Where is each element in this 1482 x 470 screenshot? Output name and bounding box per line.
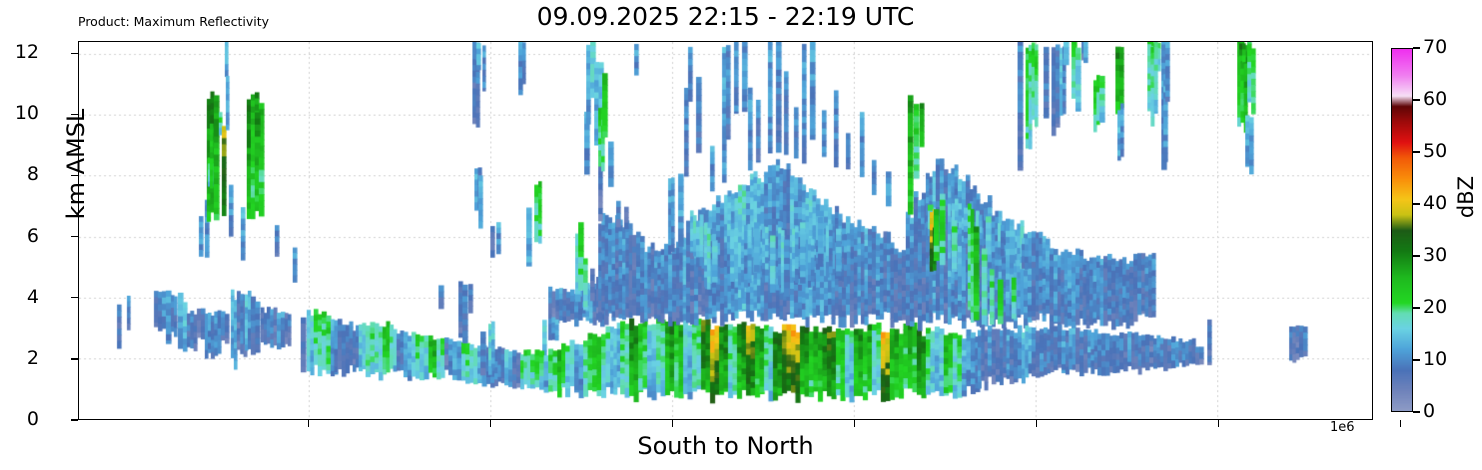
y-tick-mark xyxy=(71,175,78,176)
y-tick-mark xyxy=(71,297,78,298)
colorbar xyxy=(1391,48,1413,412)
page-title: 09.09.2025 22:15 - 22:19 UTC xyxy=(78,2,1373,32)
colorbar-tick-label: 10 xyxy=(1423,350,1447,369)
colorbar-tick-mark xyxy=(1413,47,1420,48)
colorbar-tick-label: 50 xyxy=(1423,142,1447,161)
chart-root: Product: Maximum Reflectivity 09.09.2025… xyxy=(0,0,1482,470)
colorbar-tick-mark xyxy=(1413,411,1420,412)
colorbar-tick-mark xyxy=(1413,99,1420,100)
x-tick-mark xyxy=(1218,420,1219,427)
y-tick-mark xyxy=(71,53,78,54)
colorbar-tick-mark xyxy=(1413,151,1420,152)
y-tick-mark xyxy=(71,358,78,359)
colorbar-tick-label: 30 xyxy=(1423,246,1447,265)
x-tick-mark xyxy=(1036,420,1037,427)
colorbar-tick-label: 0 xyxy=(1423,402,1435,421)
colorbar-tick-label: 40 xyxy=(1423,194,1447,213)
colorbar-tick-label: 60 xyxy=(1423,90,1447,109)
y-tick-label: 8 xyxy=(0,165,39,184)
x-axis-offset-label: 1e6 xyxy=(1330,420,1355,436)
colorbar-unit-label: dBZ xyxy=(1454,137,1478,257)
y-tick-label: 2 xyxy=(0,349,39,368)
y-tick-label: 4 xyxy=(0,288,39,307)
colorbar-tick-label: 20 xyxy=(1423,298,1447,317)
plot-area xyxy=(78,41,1373,420)
x-tick-mark xyxy=(854,420,855,427)
x-tick-mark xyxy=(308,420,309,427)
reflectivity-heatmap xyxy=(79,42,1372,419)
y-tick-mark xyxy=(71,236,78,237)
colorbar-tick-mark xyxy=(1413,359,1420,360)
y-tick-label: 0 xyxy=(0,410,39,429)
x-tick-mark xyxy=(672,420,673,427)
y-tick-label: 10 xyxy=(0,104,39,123)
colorbar-tick-mark xyxy=(1413,255,1420,256)
x-tick-mark xyxy=(1400,420,1401,427)
x-tick-mark xyxy=(490,420,491,427)
colorbar-tick-mark xyxy=(1413,307,1420,308)
colorbar-tick-label: 70 xyxy=(1423,38,1447,57)
x-axis-label: South to North xyxy=(78,432,1373,460)
y-tick-label: 12 xyxy=(0,43,39,62)
colorbar-tick-mark xyxy=(1413,203,1420,204)
colorbar-gradient xyxy=(1391,48,1413,412)
y-tick-mark xyxy=(71,419,78,420)
y-tick-label: 6 xyxy=(0,227,39,246)
y-axis-label: km AMSL xyxy=(62,84,90,244)
y-tick-mark xyxy=(71,114,78,115)
